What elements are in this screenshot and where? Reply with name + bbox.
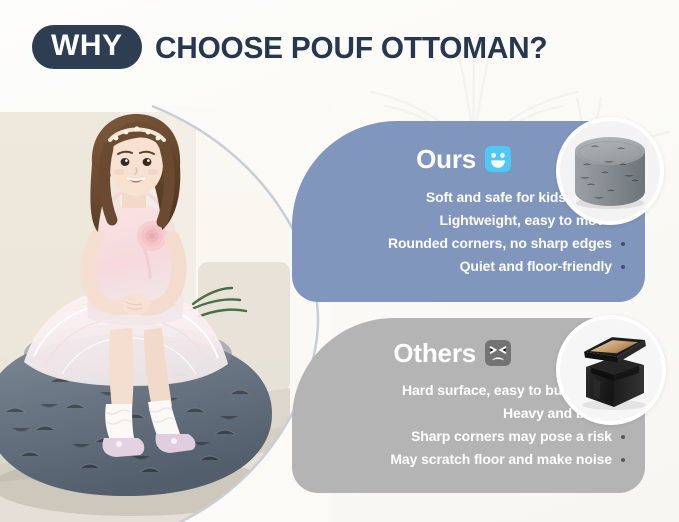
list-item: Quiet and floor-friendly [460, 258, 625, 276]
others-product-thumbnail [556, 315, 666, 425]
others-heading-label: Others [393, 340, 476, 366]
ours-product-thumbnail [556, 117, 664, 225]
page-title: CHOOSE POUF OTTOMAN? [155, 32, 547, 63]
header: WHY CHOOSE POUF OTTOMAN? [32, 25, 563, 69]
list-item: Sharp corners may pose a risk [411, 428, 625, 446]
bullet-dot-icon [621, 265, 625, 269]
bullet-dot-icon [621, 242, 625, 246]
why-badge: WHY [32, 25, 142, 69]
comparison-infographic: WHY CHOOSE POUF OTTOMAN? [0, 0, 679, 522]
frowning-face-icon [485, 340, 511, 366]
bullet-text: May scratch floor and make noise [390, 451, 612, 469]
smiling-face-icon [485, 146, 511, 172]
lifestyle-photo [0, 112, 290, 522]
bullet-text: Rounded corners, no sharp edges [388, 235, 612, 253]
bullet-dot-icon [621, 435, 625, 439]
bullet-dot-icon [621, 458, 625, 462]
others-panel-heading: Others [393, 340, 511, 366]
bullet-text: Quiet and floor-friendly [460, 258, 612, 276]
ours-heading-label: Ours [416, 146, 476, 172]
bullet-text: Sharp corners may pose a risk [411, 428, 612, 446]
list-item: May scratch floor and make noise [390, 451, 625, 469]
ours-panel-heading: Ours [416, 146, 511, 172]
list-item: Rounded corners, no sharp edges [388, 235, 625, 253]
